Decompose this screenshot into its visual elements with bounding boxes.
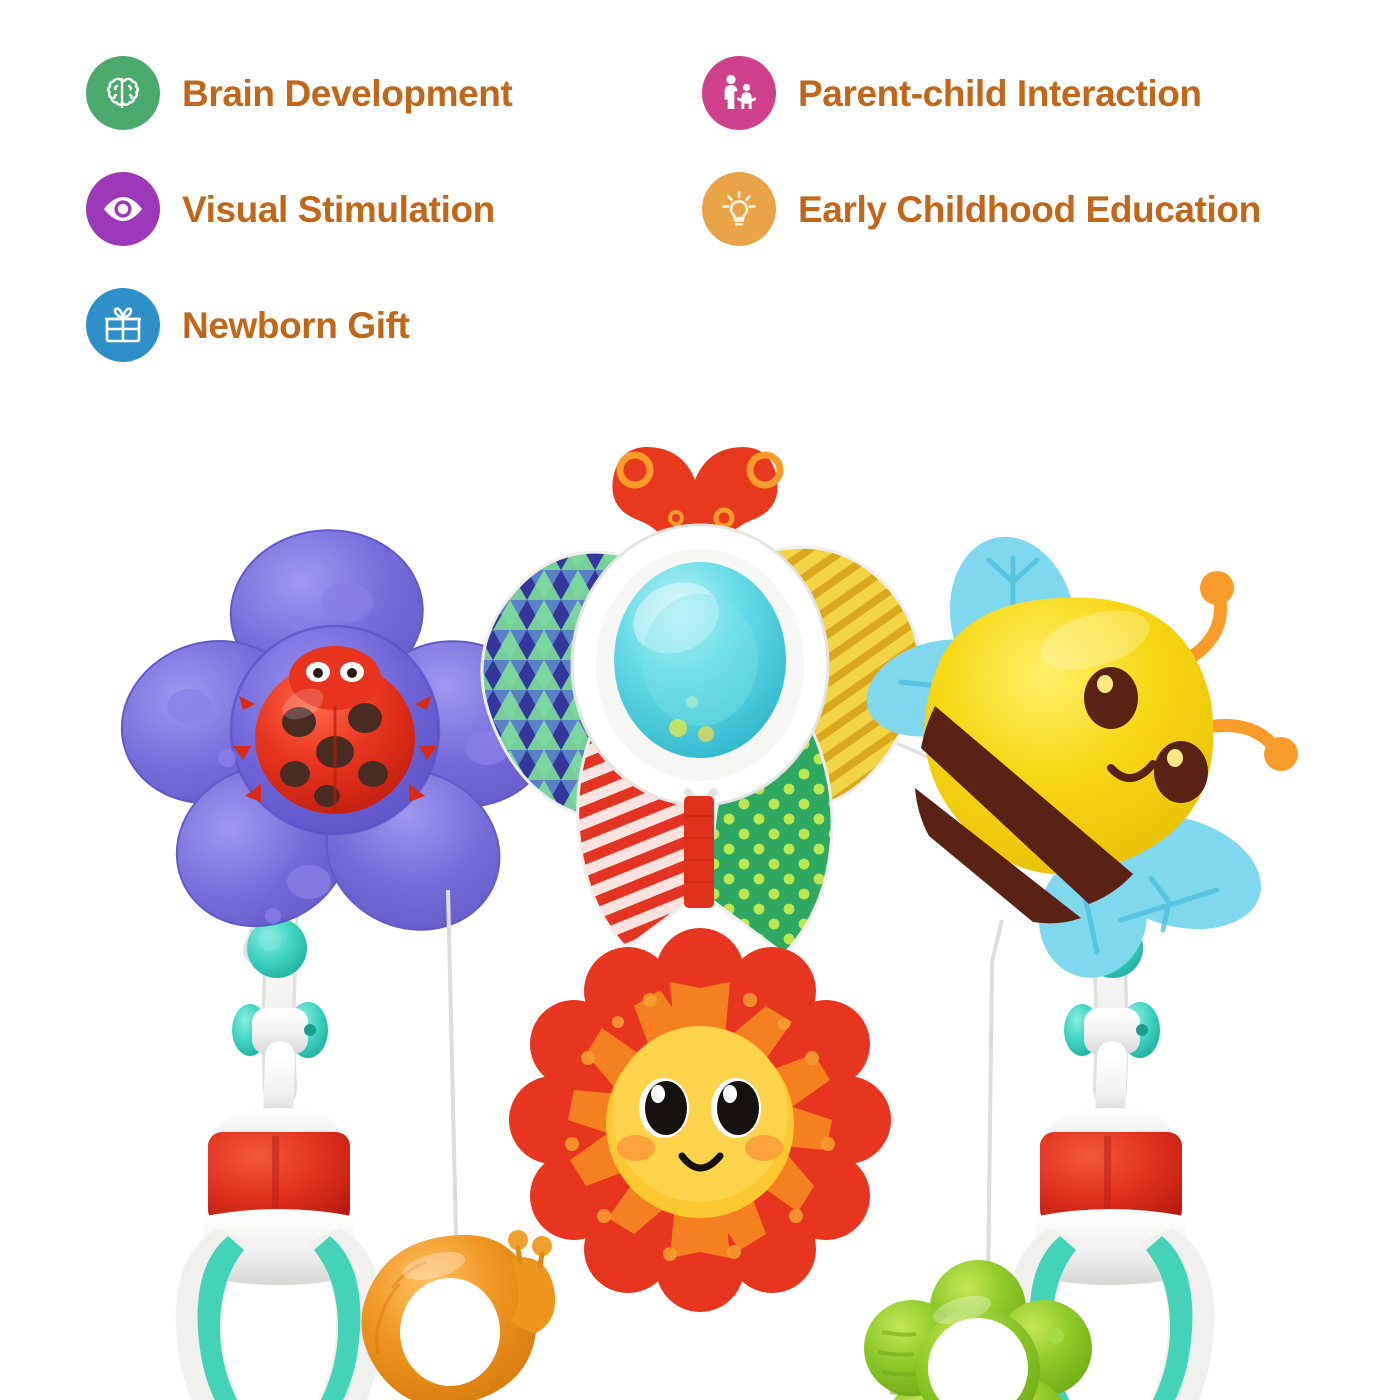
- feature-item-visual-stimulation: Visual Stimulation: [86, 172, 495, 246]
- product-image-activity-arch: [0, 330, 1400, 1400]
- snail-teether: [361, 1230, 555, 1400]
- feature-label: Brain Development: [182, 75, 512, 112]
- feature-label: Visual Stimulation: [182, 191, 495, 228]
- eye-icon: [86, 172, 160, 246]
- parent-child-icon: [702, 56, 776, 130]
- feature-item-parent-child-interaction: Parent-child Interaction: [702, 56, 1202, 130]
- feature-label: Early Childhood Education: [798, 191, 1261, 228]
- central-rattle: [482, 447, 919, 954]
- feature-item-early-childhood-education: Early Childhood Education: [702, 172, 1261, 246]
- brain-icon: [86, 56, 160, 130]
- clamp-left: [176, 900, 383, 1400]
- lightbulb-icon: [702, 172, 776, 246]
- feature-label: Parent-child Interaction: [798, 75, 1202, 112]
- feature-item-brain-development: Brain Development: [86, 56, 512, 130]
- sunflower-plush: [509, 928, 891, 1312]
